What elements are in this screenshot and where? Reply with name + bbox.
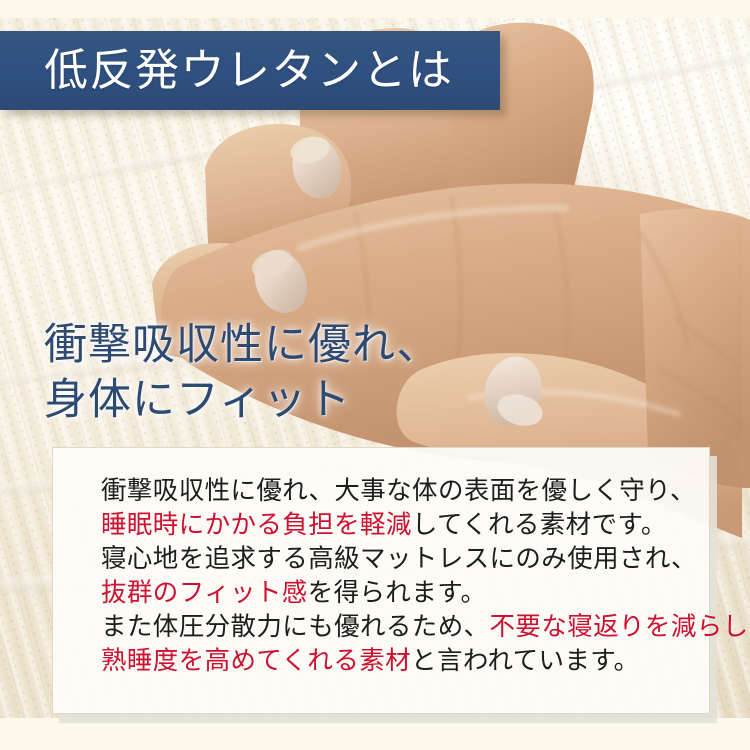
emphasis-text-6-1: 熟睡度を高めてくれる素材 [101, 646, 411, 675]
top-letterbox-strip [0, 0, 750, 18]
section-title-banner: 低反発ウレタンとは [0, 31, 500, 110]
emphasis-text-4-1: 抜群のフィット感 [101, 578, 308, 607]
description-line-6: 熟睡度を高めてくれる素材と言われています。 [101, 644, 693, 678]
plain-text-1-1: 衝撃吸収性に優れ、大事な体の表面を優しく守り、 [101, 476, 696, 505]
bottom-letterbox-strip [0, 718, 750, 750]
plain-text-3-1: 寝心地を追求する高級マットレスにのみ使用され、 [101, 544, 697, 573]
description-line-3: 寝心地を追求する高級マットレスにのみ使用され、 [101, 542, 693, 576]
plain-text-6-2: と言われています。 [411, 646, 640, 675]
description-line-5: また体圧分散力にも優れるため、不要な寝返りを減らし、 [101, 610, 693, 644]
headline: 衝撃吸収性に優れ、 身体にフィット [44, 318, 440, 428]
headline-line-1: 衝撃吸収性に優れ、 [44, 318, 440, 373]
plain-text-2-2: してくれる素材です。 [412, 510, 667, 539]
description-text: 衝撃吸収性に優れ、大事な体の表面を優しく守り、睡眠時にかかる負担を軽減してくれる… [101, 474, 693, 678]
section-title: 低反発ウレタンとは [0, 49, 454, 93]
emphasis-text-2-1: 睡眠時にかかる負担を軽減 [101, 510, 412, 539]
emphasis-text-5-2: 不要な寝返りを減らし、 [490, 612, 750, 641]
description-line-2: 睡眠時にかかる負担を軽減してくれる素材です。 [101, 508, 693, 542]
plain-text-5-1: また体圧分散力にも優れるため、 [101, 612, 490, 641]
promo-banner-page: 低反発ウレタンとは 衝撃吸収性に優れ、 身体にフィット 衝撃吸収性に優れ、大事な… [0, 0, 750, 750]
description-line-4: 抜群のフィット感を得られます。 [101, 576, 693, 610]
plain-text-4-2: を得られます。 [308, 578, 487, 607]
headline-line-2: 身体にフィット [44, 373, 440, 428]
description-panel: 衝撃吸収性に優れ、大事な体の表面を優しく守り、睡眠時にかかる負担を軽減してくれる… [52, 447, 710, 714]
description-line-1: 衝撃吸収性に優れ、大事な体の表面を優しく守り、 [101, 474, 693, 508]
